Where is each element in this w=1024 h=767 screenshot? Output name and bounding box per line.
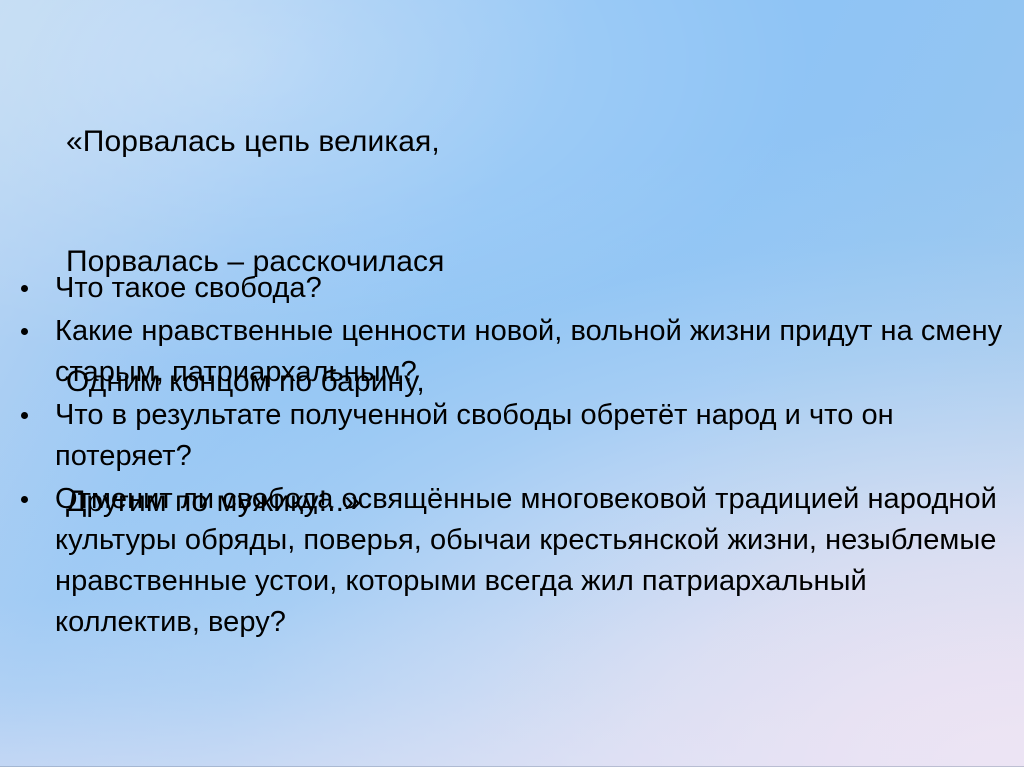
list-item: Какие нравственные ценности новой, вольн… xyxy=(0,311,1024,393)
list-item-text: Что такое свобода? xyxy=(55,268,1012,309)
quote-line-1: «Порвалась цепь великая, xyxy=(66,122,444,162)
bullet-dot-icon xyxy=(21,496,28,503)
slide-content: «Порвалась цепь великая, Порвалась – рас… xyxy=(0,0,1024,767)
list-item-text: Какие нравственные ценности новой, вольн… xyxy=(55,311,1012,393)
bullet-dot-icon xyxy=(21,328,28,335)
presentation-slide: «Порвалась цепь великая, Порвалась – рас… xyxy=(0,0,1024,767)
bullet-dot-icon xyxy=(21,412,28,419)
list-item: Отменит ли свобода освящённые многовеков… xyxy=(0,479,1024,643)
list-item: Что в результате полученной свободы обре… xyxy=(0,395,1024,477)
list-item-text: Отменит ли свобода освящённые многовеков… xyxy=(55,479,1012,643)
question-list: Что такое свобода? Какие нравственные це… xyxy=(0,268,1024,645)
list-item-text: Что в результате полученной свободы обре… xyxy=(55,395,1012,477)
list-item: Что такое свобода? xyxy=(0,268,1024,309)
bullet-dot-icon xyxy=(21,285,28,292)
